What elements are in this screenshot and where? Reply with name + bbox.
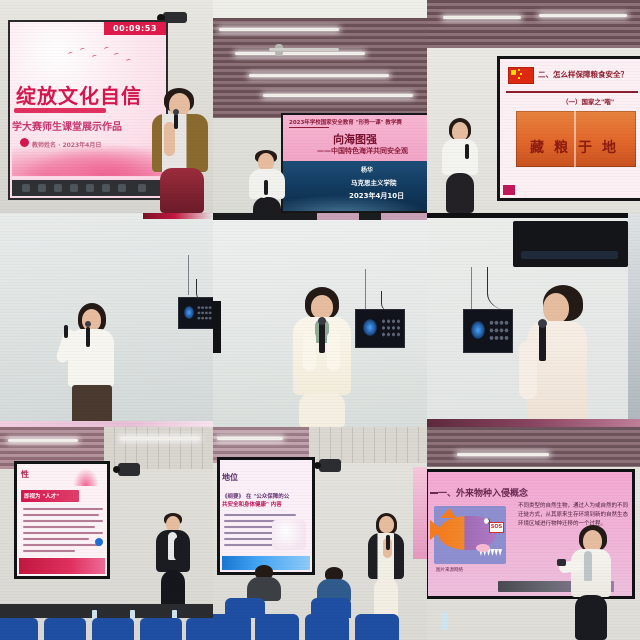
projector-icon	[118, 463, 140, 476]
panel-top-right: 二、怎么样保障粮食安全？ （一）国家之"喈" 藏粮于地	[427, 0, 640, 213]
speaker-figure	[439, 118, 483, 213]
antenna-icon	[471, 267, 472, 311]
audience-seating	[0, 616, 213, 640]
slide-corner-tag	[503, 185, 515, 195]
slide-footer-band	[19, 558, 105, 574]
wall-monitor	[178, 297, 213, 329]
title-underline	[14, 108, 106, 113]
photo-collage-grid: 00:09:53 绽放文化自信 学大赛师生课堂展示作品 教师姓名 · 2023年…	[0, 0, 640, 640]
antenna-icon	[188, 255, 189, 295]
slide-callout-band: 即视为 "人才"	[21, 490, 79, 502]
screen-taskbar	[12, 180, 164, 196]
slide-title: 向海图强	[333, 131, 377, 147]
wall-monitor	[355, 309, 405, 348]
monitor-glow	[471, 321, 485, 340]
slide-illustration	[272, 520, 306, 550]
panel-top-edge	[213, 213, 427, 220]
slide-body-line1: 《纲要》 在 "公众保障的公	[222, 492, 289, 500]
slide-presenter: 杨华	[361, 165, 373, 174]
fish-fin-icon	[440, 508, 456, 518]
ceiling-light-icon	[443, 16, 521, 19]
slide-body-line2: 共安全和身体健康" 内容	[222, 500, 282, 508]
illustration-caption: 图片来源网络	[436, 567, 463, 573]
ceiling-light-icon	[120, 437, 200, 440]
slide-subheading: （一）国家之"喈"	[562, 96, 614, 106]
slatted-ceiling	[427, 0, 640, 48]
monitor-glow	[184, 306, 195, 320]
ceiling-grid	[309, 427, 427, 463]
ceiling-edge	[213, 0, 427, 18]
fish-illustration: SOS 图片来源网络	[434, 506, 506, 564]
ceiling-fan-blade	[269, 48, 339, 51]
panel-bottom-edge	[427, 419, 640, 427]
presentation-screen: 2023年学校国家安全教育 "形势一课" 教学赛 向海图强 ——中国特色海洋共同…	[281, 113, 427, 213]
water-bottle-icon	[441, 612, 448, 630]
ceiling-light-icon	[457, 453, 549, 456]
speaker-figure	[152, 513, 194, 609]
panel-middle-right	[427, 213, 640, 427]
audience-member	[247, 565, 281, 599]
monitor-glow	[363, 319, 377, 336]
slide-callout: 即视为 "人才"	[24, 492, 59, 500]
heading-rule	[506, 91, 638, 93]
cable-icon	[196, 279, 211, 301]
pink-landscape-motif	[12, 138, 164, 176]
slide-subtitle: 学大赛师生课堂展示作品	[12, 118, 122, 133]
timer-value: 00:09:53	[104, 22, 166, 35]
monitor-keypad[interactable]	[197, 305, 212, 322]
projector-icon	[319, 459, 341, 472]
wall-column	[628, 213, 640, 427]
ceiling-light-icon	[539, 14, 627, 17]
microphone-icon	[319, 323, 325, 353]
bird-motif-icon	[68, 46, 138, 68]
panel-middle-left	[0, 213, 213, 427]
ceiling-light-icon	[235, 52, 365, 55]
speaker-figure	[150, 88, 210, 213]
panel-top-center: 2023年学校国家安全教育 "形势一课" 教学赛 向海图强 ——中国特色海洋共同…	[213, 0, 427, 213]
speaker-figure	[565, 525, 617, 640]
grain-field-photo: 藏粮于地	[516, 111, 636, 167]
speaker-figure	[245, 150, 291, 213]
slide-date: 2023年4月10日	[349, 191, 404, 201]
presentation-screen: 地位 《纲要》 在 "公众保障的公 共安全和身体健康" 内容	[217, 457, 315, 575]
presentation-screen: 二、怎么样保障粮食安全？ （一）国家之"喈" 藏粮于地	[497, 56, 640, 201]
slide-title: 绽放文化自信	[16, 80, 142, 109]
timer-badge: 00:09:53	[104, 22, 166, 35]
presentation-screen: 00:09:53 绽放文化自信 学大赛师生课堂展示作品 教师姓名 · 2023年…	[8, 20, 168, 200]
slide-heading: 性	[21, 469, 29, 480]
slide-heading: 地位	[222, 472, 238, 483]
panel-middle-center	[213, 213, 427, 427]
speaker-figure	[291, 287, 353, 427]
panel-top-left: 00:09:53 绽放文化自信 学大赛师生课堂展示作品 教师姓名 · 2023年…	[0, 0, 213, 213]
presentation-screen: 性 即视为 "人才"	[14, 461, 110, 579]
photo-caption: 藏粮于地	[530, 137, 626, 157]
sos-sign-icon: SOS	[489, 522, 504, 533]
ceiling-light-icon	[263, 94, 413, 97]
microphone-icon	[86, 327, 90, 347]
monitor-keypad[interactable]	[489, 319, 509, 342]
ethnic-costume	[152, 114, 208, 172]
audience-seating	[213, 596, 427, 640]
panel-top-edge	[427, 213, 640, 218]
panel-bottom-right: 一、外来物种入侵概念 不同类型的自然生物，通过人为或自然的不同迁徙方式，从其原来…	[427, 427, 640, 640]
slide-banner: 2023年学校国家安全教育 "形势一课" 教学赛	[289, 118, 402, 126]
slide-badge	[95, 538, 103, 546]
adjacent-screen	[413, 467, 427, 559]
speaker-figure	[513, 285, 589, 427]
monitor-keypad[interactable]	[381, 318, 401, 338]
ceiling-light-icon	[217, 437, 283, 440]
slide-heading: 一、外来物种入侵概念	[438, 486, 528, 499]
projector-unit	[513, 221, 628, 267]
ceiling-light-icon	[8, 439, 78, 442]
umbrella-motif	[73, 468, 99, 486]
adjacent-screen-edge	[213, 301, 221, 353]
cable-icon	[381, 291, 400, 311]
slide-subtitle: ——中国特色海洋共同安全观	[317, 146, 408, 156]
wall-monitor	[463, 309, 513, 353]
microphone-icon	[539, 325, 546, 361]
panel-bottom-left: 性 即视为 "人才"	[0, 427, 213, 640]
chinese-flag-icon	[508, 67, 534, 84]
slide-affiliation: 马克思主义学院	[351, 177, 397, 187]
antenna-icon	[365, 269, 366, 309]
speaker-figure	[60, 303, 120, 427]
ceiling-light-icon	[219, 28, 339, 31]
panel-top-edge	[143, 213, 213, 219]
small-fish-icon	[476, 544, 490, 552]
ceiling-light-icon	[249, 74, 389, 77]
presenter-remote-icon	[557, 559, 566, 566]
slide-heading: 二、怎么样保障粮食安全？	[538, 69, 628, 80]
panel-bottom-center: 地位 《纲要》 在 "公众保障的公 共安全和身体健康" 内容	[213, 427, 427, 640]
slatted-ceiling	[427, 427, 640, 467]
